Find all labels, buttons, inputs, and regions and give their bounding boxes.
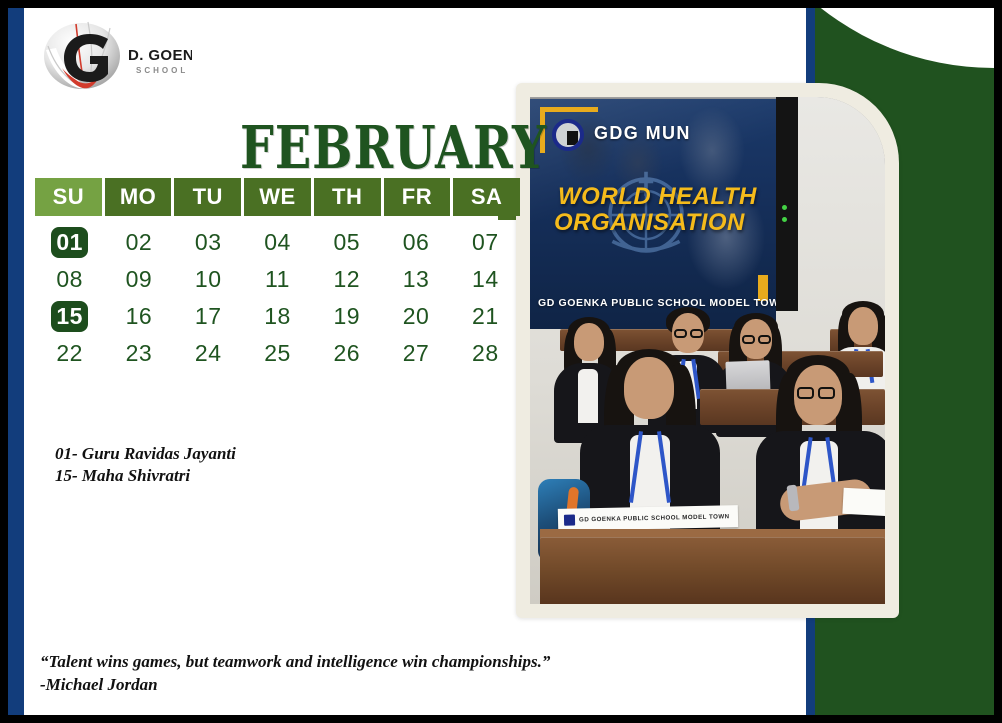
calendar-day-number: 19 xyxy=(328,301,365,332)
banner-footer: GD GOENKA PUBLIC SCHOOL MODEL TOWN xyxy=(538,297,776,309)
calendar-day-21[interactable]: 21 xyxy=(451,298,520,335)
event-item: 15- Maha Shivratri xyxy=(55,465,236,487)
un-emblem-icon xyxy=(552,119,584,151)
calendar-weekday-header: SUMOTUWETHFRSA xyxy=(35,178,520,216)
calendar-day-number: 20 xyxy=(398,301,435,332)
calendar-day-12[interactable]: 12 xyxy=(312,261,381,298)
month-title: FEBRUARY xyxy=(240,113,540,182)
photo-card: GDG MUN WORLD HEALTH ORGANISATION GD GOE… xyxy=(516,83,899,618)
weekday-header-th: TH xyxy=(314,178,381,216)
calendar-day-number: 27 xyxy=(398,338,435,369)
calendar-day-06[interactable]: 06 xyxy=(381,224,450,261)
calendar-day-number: 04 xyxy=(259,227,296,258)
calendar-day-number: 11 xyxy=(260,264,295,295)
calendar-day-number: 10 xyxy=(190,264,227,295)
calendar-day-03[interactable]: 03 xyxy=(174,224,243,261)
calendar-day-number: 14 xyxy=(467,264,504,295)
calendar-day-27[interactable]: 27 xyxy=(381,335,450,372)
calendar-date-body: 0102030405060708091011121314151617181920… xyxy=(35,224,520,372)
calendar-day-number: 24 xyxy=(190,338,227,369)
calendar-day-28[interactable]: 28 xyxy=(451,335,520,372)
weekday-header-we: WE xyxy=(244,178,311,216)
banner-title: GDG MUN xyxy=(594,123,691,144)
calendar-day-number: 16 xyxy=(121,301,158,332)
calendar-day-15[interactable]: 15 xyxy=(35,298,104,335)
calendar-day-18[interactable]: 18 xyxy=(243,298,312,335)
calendar-day-number: 18 xyxy=(259,301,296,332)
placard-text: GD GOENKA PUBLIC SCHOOL MODEL TOWN xyxy=(579,513,730,523)
calendar-day-02[interactable]: 02 xyxy=(104,224,173,261)
calendar-day-26[interactable]: 26 xyxy=(312,335,381,372)
calendar-day-01[interactable]: 01 xyxy=(35,224,104,261)
weekday-header-fr: FR xyxy=(384,178,451,216)
placard-logo-icon xyxy=(564,514,575,525)
calendar-day-14[interactable]: 14 xyxy=(451,261,520,298)
calendar-day-number: 12 xyxy=(328,264,365,295)
calendar-day-number: 02 xyxy=(121,227,158,258)
calendar-day-04[interactable]: 04 xyxy=(243,224,312,261)
calendar-day-08[interactable]: 08 xyxy=(35,261,104,298)
calendar-day-24[interactable]: 24 xyxy=(174,335,243,372)
calendar-day-number: 15 xyxy=(51,301,88,332)
event-list: 01- Guru Ravidas Jayanti15- Maha Shivrat… xyxy=(55,443,236,487)
calendar-grid: SUMOTUWETHFRSA 0102030405060708091011121… xyxy=(35,178,520,372)
calendar-day-number: 21 xyxy=(467,301,504,332)
calendar-day-17[interactable]: 17 xyxy=(174,298,243,335)
calendar-day-10[interactable]: 10 xyxy=(174,261,243,298)
weekday-header-mo: MO xyxy=(105,178,172,216)
screen-led-icon xyxy=(782,205,787,210)
calendar-day-number: 03 xyxy=(190,227,227,258)
calendar-day-20[interactable]: 20 xyxy=(381,298,450,335)
quote-author: -Michael Jordan xyxy=(40,673,550,696)
calendar-day-number: 07 xyxy=(467,227,504,258)
school-logo: D. GOENKA SCHOOL xyxy=(32,16,192,98)
calendar-day-number: 25 xyxy=(259,338,296,369)
left-blue-border xyxy=(8,8,24,715)
weekday-header-sa: SA xyxy=(453,178,520,216)
logo-name-text: D. GOENKA xyxy=(128,47,192,64)
calendar-day-number: 28 xyxy=(467,338,504,369)
calendar-day-16[interactable]: 16 xyxy=(104,298,173,335)
calendar-day-number: 08 xyxy=(51,264,88,295)
calendar-day-number: 09 xyxy=(121,264,158,295)
desk-row-front xyxy=(540,537,885,604)
desk-placard-secondary xyxy=(842,488,885,516)
desk-placard: GD GOENKA PUBLIC SCHOOL MODEL TOWN xyxy=(558,505,738,531)
calendar-day-number: 01 xyxy=(51,227,88,258)
mun-banner: GDG MUN WORLD HEALTH ORGANISATION GD GOE… xyxy=(530,97,776,329)
calendar-day-number: 17 xyxy=(190,301,227,332)
banner-subtitle-line1: WORLD HEALTH xyxy=(558,183,757,211)
calendar-day-number: 22 xyxy=(51,338,88,369)
calendar-day-23[interactable]: 23 xyxy=(104,335,173,372)
calendar-day-number: 06 xyxy=(398,227,435,258)
calendar-day-number: 05 xyxy=(328,227,365,258)
calendar-day-05[interactable]: 05 xyxy=(312,224,381,261)
calendar-day-number: 26 xyxy=(328,338,365,369)
calendar-day-19[interactable]: 19 xyxy=(312,298,381,335)
quote-text: “Talent wins games, but teamwork and int… xyxy=(40,650,550,673)
calendar-day-07[interactable]: 07 xyxy=(451,224,520,261)
event-photo: GDG MUN WORLD HEALTH ORGANISATION GD GOE… xyxy=(530,97,885,604)
calendar-day-11[interactable]: 11 xyxy=(243,261,312,298)
calendar-page: D. GOENKA SCHOOL FEBRUARY SUMOTUWETHFRSA… xyxy=(0,0,1002,723)
calendar-day-number: 23 xyxy=(121,338,158,369)
calendar-day-number: 13 xyxy=(398,264,435,295)
calendar-day-09[interactable]: 09 xyxy=(104,261,173,298)
weekday-header-tu: TU xyxy=(174,178,241,216)
weekday-header-su: SU xyxy=(35,178,102,216)
quote-block: “Talent wins games, but teamwork and int… xyxy=(40,650,550,696)
logo-subtitle-text: SCHOOL xyxy=(136,66,188,75)
event-item: 01- Guru Ravidas Jayanti xyxy=(55,443,236,465)
wall-screen xyxy=(776,97,798,311)
banner-subtitle-line2: ORGANISATION xyxy=(554,209,745,237)
calendar-day-13[interactable]: 13 xyxy=(381,261,450,298)
calendar-day-25[interactable]: 25 xyxy=(243,335,312,372)
calendar-day-22[interactable]: 22 xyxy=(35,335,104,372)
